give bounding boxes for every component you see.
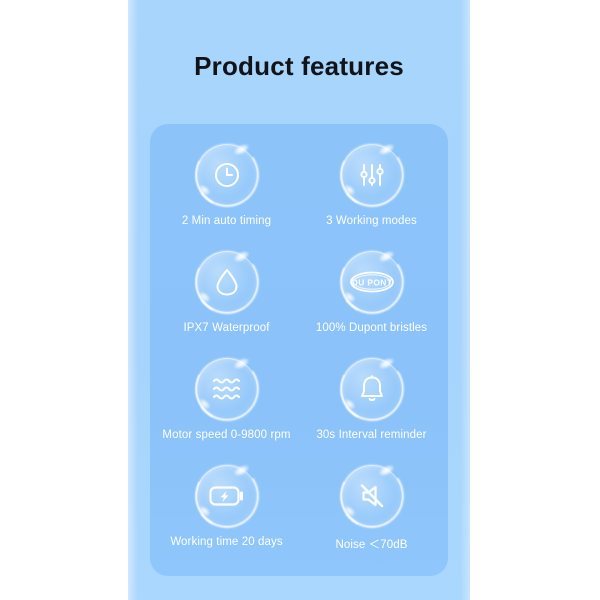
vibration-waves-icon <box>210 374 244 404</box>
feature-label: 30s Interval reminder <box>316 429 426 441</box>
dupont-logo-text: DU PONT <box>351 277 392 287</box>
feature-item-2-min-auto-timing[interactable]: 2 Min auto timing <box>154 138 299 245</box>
bubble-sparkle-bottom-left <box>196 183 211 197</box>
feature-item-noise-level[interactable]: Noise ＜70dB <box>299 459 444 566</box>
bubble-sparkle-top-right <box>376 142 395 158</box>
feature-item-interval-reminder[interactable]: 30s Interval reminder <box>299 352 444 459</box>
feature-label: 100% Dupont bristles <box>316 322 427 334</box>
feature-label: Noise ＜70dB <box>335 536 407 552</box>
feature-label: 2 Min auto timing <box>182 215 271 227</box>
feature-bubble <box>196 465 258 527</box>
feature-bubble <box>196 144 258 206</box>
feature-item-ipx7-waterproof[interactable]: IPX7 Waterproof <box>154 245 299 352</box>
bubble-sparkle-bottom-left <box>341 397 356 411</box>
bubble-sparkle-top-right <box>231 249 250 265</box>
dupont-logo-icon: DU PONT <box>349 269 395 295</box>
product-features-page: Product features 2 Min auto timing <box>0 0 600 600</box>
feature-item-dupont-bristles[interactable]: DU PONT 100% Dupont bristles <box>299 245 444 352</box>
bubble-sparkle-top-right <box>231 463 250 479</box>
bubble-sparkle-bottom-left <box>341 183 356 197</box>
bubble-sparkle-top-right <box>376 356 395 372</box>
feature-label: 3 Working modes <box>326 215 417 227</box>
sliders-icon <box>356 159 388 191</box>
features-card: 2 Min auto timing <box>150 124 448 576</box>
feature-label: IPX7 Waterproof <box>183 322 269 334</box>
battery-charge-icon <box>208 483 246 509</box>
page-title: Product features <box>128 51 470 82</box>
feature-bubble <box>196 358 258 420</box>
bubble-sparkle-top-right <box>231 356 250 372</box>
feature-item-motor-speed[interactable]: Motor speed 0-9800 rpm <box>154 352 299 459</box>
feature-label: Motor speed 0-9800 rpm <box>162 429 290 441</box>
bubble-sparkle-top-right <box>376 249 395 265</box>
feature-bubble: DU PONT <box>341 251 403 313</box>
bell-icon <box>356 373 388 405</box>
bubble-sparkle-bottom-left <box>196 290 211 304</box>
feature-item-working-time[interactable]: Working time 20 days <box>154 459 299 566</box>
feature-bubble <box>196 251 258 313</box>
feature-label: Working time 20 days <box>170 536 282 548</box>
feature-item-3-working-modes[interactable]: 3 Working modes <box>299 138 444 245</box>
feature-bubble <box>341 144 403 206</box>
bubble-sparkle-bottom-left <box>341 504 356 518</box>
feature-bubble <box>341 358 403 420</box>
mute-speaker-icon <box>356 480 388 512</box>
bubble-sparkle-top-right <box>231 142 250 158</box>
feature-bubble <box>341 465 403 527</box>
features-grid: 2 Min auto timing <box>150 124 448 576</box>
bubble-sparkle-top-right <box>376 463 395 479</box>
clock-icon <box>211 159 243 191</box>
water-drop-icon <box>211 266 243 298</box>
